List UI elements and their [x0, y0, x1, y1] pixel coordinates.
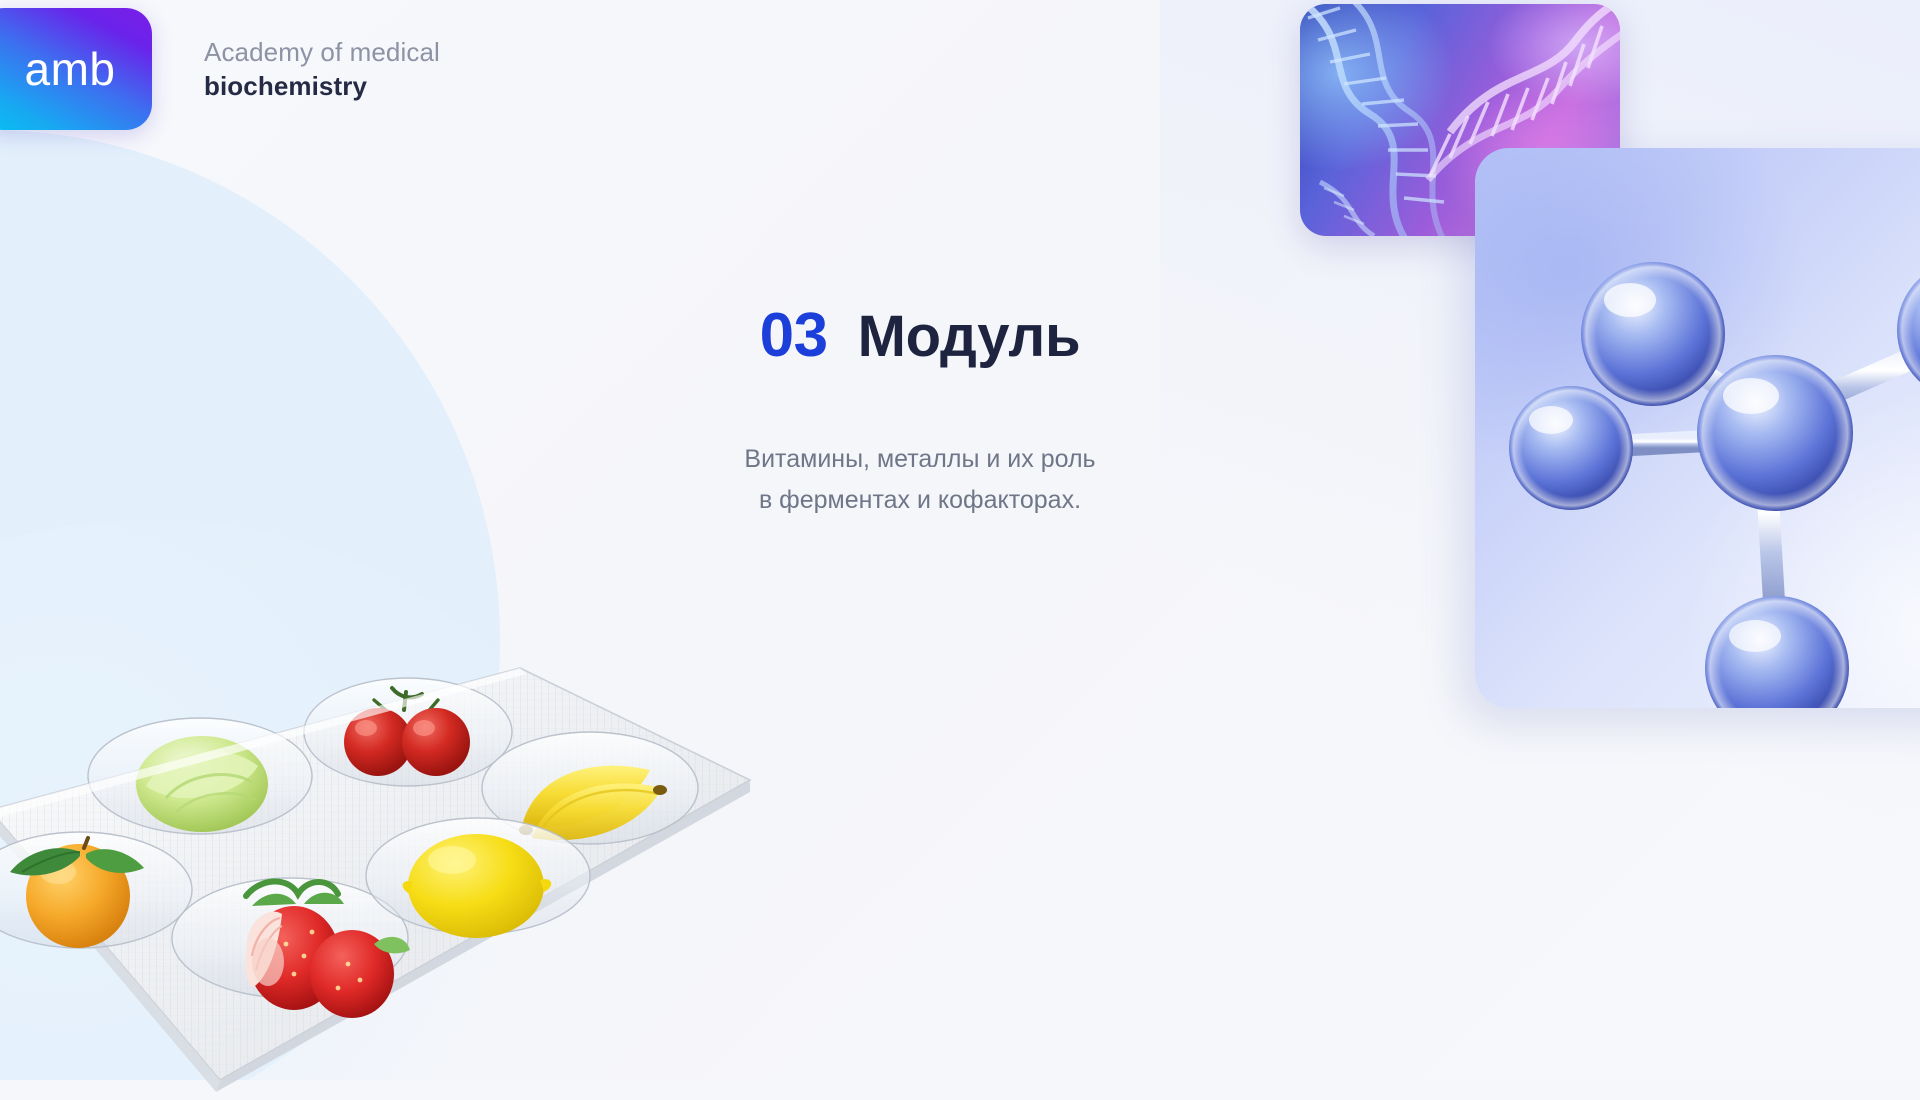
module-intro-block: 03 Модуль Витамины, металлы и их роль в …: [620, 300, 1220, 520]
molecule-image-card: [1475, 148, 1920, 708]
cabbage-item: [136, 736, 268, 832]
brand-name: Academy of medical biochemistry: [204, 35, 440, 104]
amb-logo-icon[interactable]: amb: [0, 8, 152, 130]
fruit-tray-image: [0, 560, 780, 1100]
logo-wordmark: amb: [15, 46, 116, 92]
module-heading: 03 Модуль: [620, 300, 1220, 371]
brand-lockup[interactable]: amb Academy of medical biochemistry: [0, 8, 440, 130]
brand-name-line-1: Academy of medical: [204, 35, 440, 69]
module-description-line-1: Витамины, металлы и их роль: [620, 439, 1220, 480]
molecule-model-icon: [1475, 148, 1920, 708]
brand-name-line-2: biochemistry: [204, 69, 440, 103]
module-number: 03: [760, 300, 828, 371]
module-label: Модуль: [858, 303, 1081, 370]
module-description-line-2: в ферментах и кофакторах.: [620, 480, 1220, 521]
module-description: Витамины, металлы и их роль в ферментах …: [620, 439, 1220, 520]
fruit-blister-pack-icon: [0, 560, 780, 1100]
